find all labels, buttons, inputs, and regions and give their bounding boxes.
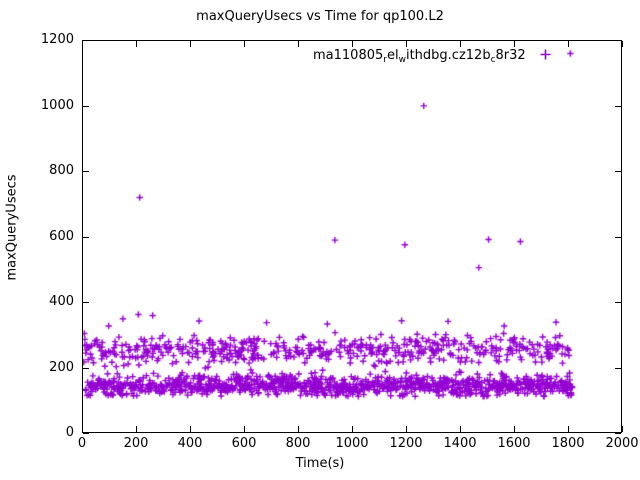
chart-root: maxQueryUsecs vs Time for qp100.L2 02004… (0, 0, 640, 480)
y-axis-title: maxQueryUsecs (5, 158, 20, 298)
y-tickmark (83, 433, 89, 434)
scatter-points-canvas (83, 41, 622, 433)
legend-label: ma110805relwithdbg.cz12bc8r32 (313, 49, 526, 64)
x-tickmark (514, 426, 515, 432)
y-tickmark (615, 106, 621, 107)
x-tickmark (244, 41, 245, 47)
x-tickmark (568, 426, 569, 432)
x-tickmark (82, 41, 83, 47)
y-tickmark (83, 106, 89, 107)
x-tickmark (190, 41, 191, 47)
x-tickmark (82, 426, 83, 432)
x-tickmark (352, 41, 353, 47)
plus-marker-icon (540, 49, 551, 60)
x-tickmark (622, 426, 623, 432)
x-tickmark (460, 426, 461, 432)
y-tickmark (83, 40, 89, 41)
x-tickmark (406, 426, 407, 432)
y-tickmark (83, 237, 89, 238)
x-tickmark (406, 41, 407, 47)
legend: ma110805relwithdbg.cz12bc8r32 (313, 48, 570, 64)
y-tickmark (83, 171, 89, 172)
x-tickmark (298, 41, 299, 47)
y-tickmark (615, 302, 621, 303)
y-tick-label: 600 (10, 230, 74, 243)
y-tickmark (615, 171, 621, 172)
y-tick-label: 1200 (10, 33, 74, 46)
y-tick-label: 800 (10, 164, 74, 177)
x-tickmark (190, 426, 191, 432)
x-axis-title: Time(s) (0, 456, 640, 471)
plot-area (82, 40, 622, 433)
y-tick-label: 1000 (10, 99, 74, 112)
x-tickmark (136, 426, 137, 432)
y-tick-label: 200 (10, 361, 74, 374)
legend-marker-sample (526, 49, 570, 63)
y-tickmark (615, 433, 621, 434)
x-tickmark (568, 41, 569, 47)
y-tickmark (615, 40, 621, 41)
x-tickmark (298, 426, 299, 432)
y-tickmark (615, 237, 621, 238)
y-tickmark (83, 368, 89, 369)
chart-title: maxQueryUsecs vs Time for qp100.L2 (0, 9, 640, 24)
x-tickmark (244, 426, 245, 432)
x-tickmark (622, 41, 623, 47)
y-tickmark (83, 302, 89, 303)
x-tickmark (352, 426, 353, 432)
y-tick-label: 400 (10, 295, 74, 308)
x-tick-label: 2000 (577, 437, 640, 450)
x-tickmark (514, 41, 515, 47)
x-tickmark (136, 41, 137, 47)
x-tickmark (460, 41, 461, 47)
y-tickmark (615, 368, 621, 369)
